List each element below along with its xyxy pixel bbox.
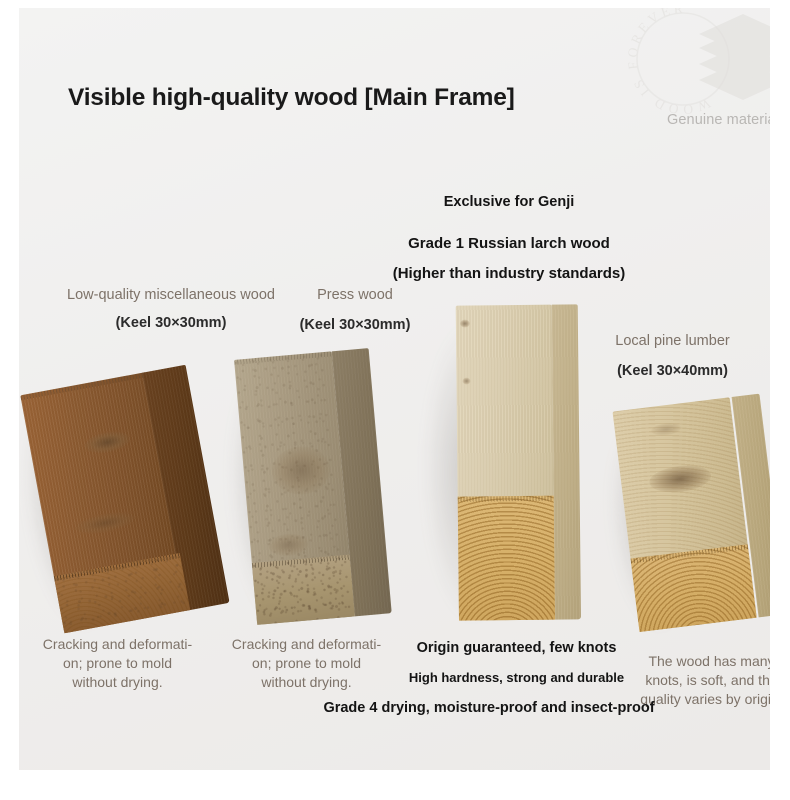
- stacked-layers-icon: [695, 10, 770, 114]
- sample-note-press-wood: Cracking and deformati- on; prone to mol…: [204, 635, 409, 692]
- callout-exclusive: Exclusive for Genji: [404, 194, 614, 210]
- wood-sample-grade-1-russian-larch-wood: [456, 304, 581, 620]
- larch-note-line-1: Origin guaranteed, few knots: [394, 640, 639, 656]
- sample-label-low-quality-miscellaneous-wood: Low-quality miscellaneous wood: [51, 287, 291, 303]
- sample-note-low-quality-miscellaneous-wood: Cracking and deformati- on; prone to mol…: [19, 635, 220, 692]
- plank-end-grain: [631, 544, 757, 632]
- page-title: Visible high-quality wood [Main Frame]: [68, 84, 515, 112]
- callout-standards: (Higher than industry standards): [359, 265, 659, 282]
- watermark-caption: Genuine materials: [667, 112, 770, 128]
- sample-label-press-wood: Press wood: [275, 287, 435, 303]
- larch-note-line-3: Grade 4 drying, moisture-proof and insec…: [304, 700, 674, 716]
- wood-is-forever-seal-icon: WOOD IS FOREVER: [624, 8, 742, 118]
- larch-note-line-2: High hardness, strong and durable: [394, 670, 639, 685]
- poster-canvas: WOOD IS FOREVER Genuine materials Visibl…: [19, 8, 770, 770]
- wood-sample-local-pine-lumber: [612, 394, 770, 632]
- wood-sample-low-quality-miscellaneous-wood: [20, 365, 229, 634]
- sample-spec-local-pine-lumber: (Keel 30×40mm): [575, 363, 770, 379]
- callout-grade: Grade 1 Russian larch wood: [369, 235, 649, 252]
- plank-end-grain: [458, 496, 555, 621]
- sample-spec-press-wood: (Keel 30×30mm): [275, 317, 435, 333]
- wood-sample-press-wood: [234, 348, 392, 625]
- sample-spec-low-quality-miscellaneous-wood: (Keel 30×30mm): [71, 315, 271, 331]
- svg-text:WOOD IS FOREVER: WOOD IS FOREVER: [625, 8, 713, 117]
- plank-side-face: [552, 304, 581, 619]
- sample-label-local-pine-lumber: Local pine lumber: [575, 333, 770, 349]
- plank-end-grain: [252, 555, 355, 625]
